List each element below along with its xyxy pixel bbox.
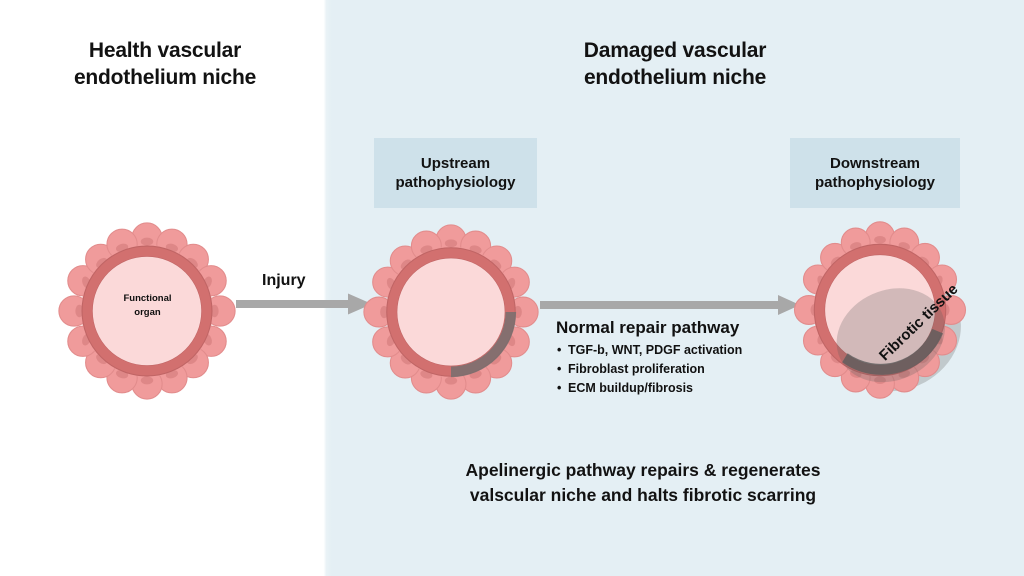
caption-line1: Apelinergic pathway repairs & regenerate… [378, 458, 908, 483]
box-upstream-line1: Upstream [396, 154, 516, 174]
vessel-healthy-icon [58, 222, 236, 400]
repair-bullet-1: TGF-b, WNT, PDGF activation [556, 341, 806, 360]
repair-bullet-2: Fibroblast proliferation [556, 360, 806, 379]
label-injury: Injury [262, 272, 306, 290]
heading-healthy-line1: Health vascular [20, 38, 310, 65]
heading-healthy-niche: Health vascular endothelium niche [20, 38, 310, 92]
box-upstream-pathophysiology: Upstream pathophysiology [374, 138, 537, 208]
box-downstream-pathophysiology: Downstream pathophysiology [790, 138, 960, 208]
heading-healthy-line2: endothelium niche [20, 65, 310, 92]
heading-damaged-niche: Damaged vascular endothelium niche [455, 38, 895, 92]
box-downstream-line1: Downstream [815, 154, 935, 174]
repair-pathway-title: Normal repair pathway [556, 318, 806, 338]
heading-damaged-line2: endothelium niche [455, 65, 895, 92]
caption-line2: valscular niche and halts fibrotic scarr… [378, 483, 908, 508]
vessel-upstream-damage-icon [363, 224, 539, 400]
repair-bullet-3: ECM buildup/fibrosis [556, 379, 806, 398]
panel-divider [318, 0, 332, 576]
box-downstream-line2: pathophysiology [815, 173, 935, 193]
box-upstream-line2: pathophysiology [396, 173, 516, 193]
caption-apelinergic-pathway: Apelinergic pathway repairs & regenerate… [378, 458, 908, 508]
heading-damaged-line1: Damaged vascular [455, 38, 895, 65]
arrow-normal-repair-pathway [540, 294, 800, 316]
repair-pathway-bullets: TGF-b, WNT, PDGF activation Fibroblast p… [556, 341, 806, 398]
vessel-lumen [93, 257, 202, 366]
arrow-injury [236, 292, 372, 316]
diagram-canvas: Health vascular endothelium niche Damage… [0, 0, 1024, 576]
repair-pathway-block: Normal repair pathway TGF-b, WNT, PDGF a… [556, 318, 806, 398]
